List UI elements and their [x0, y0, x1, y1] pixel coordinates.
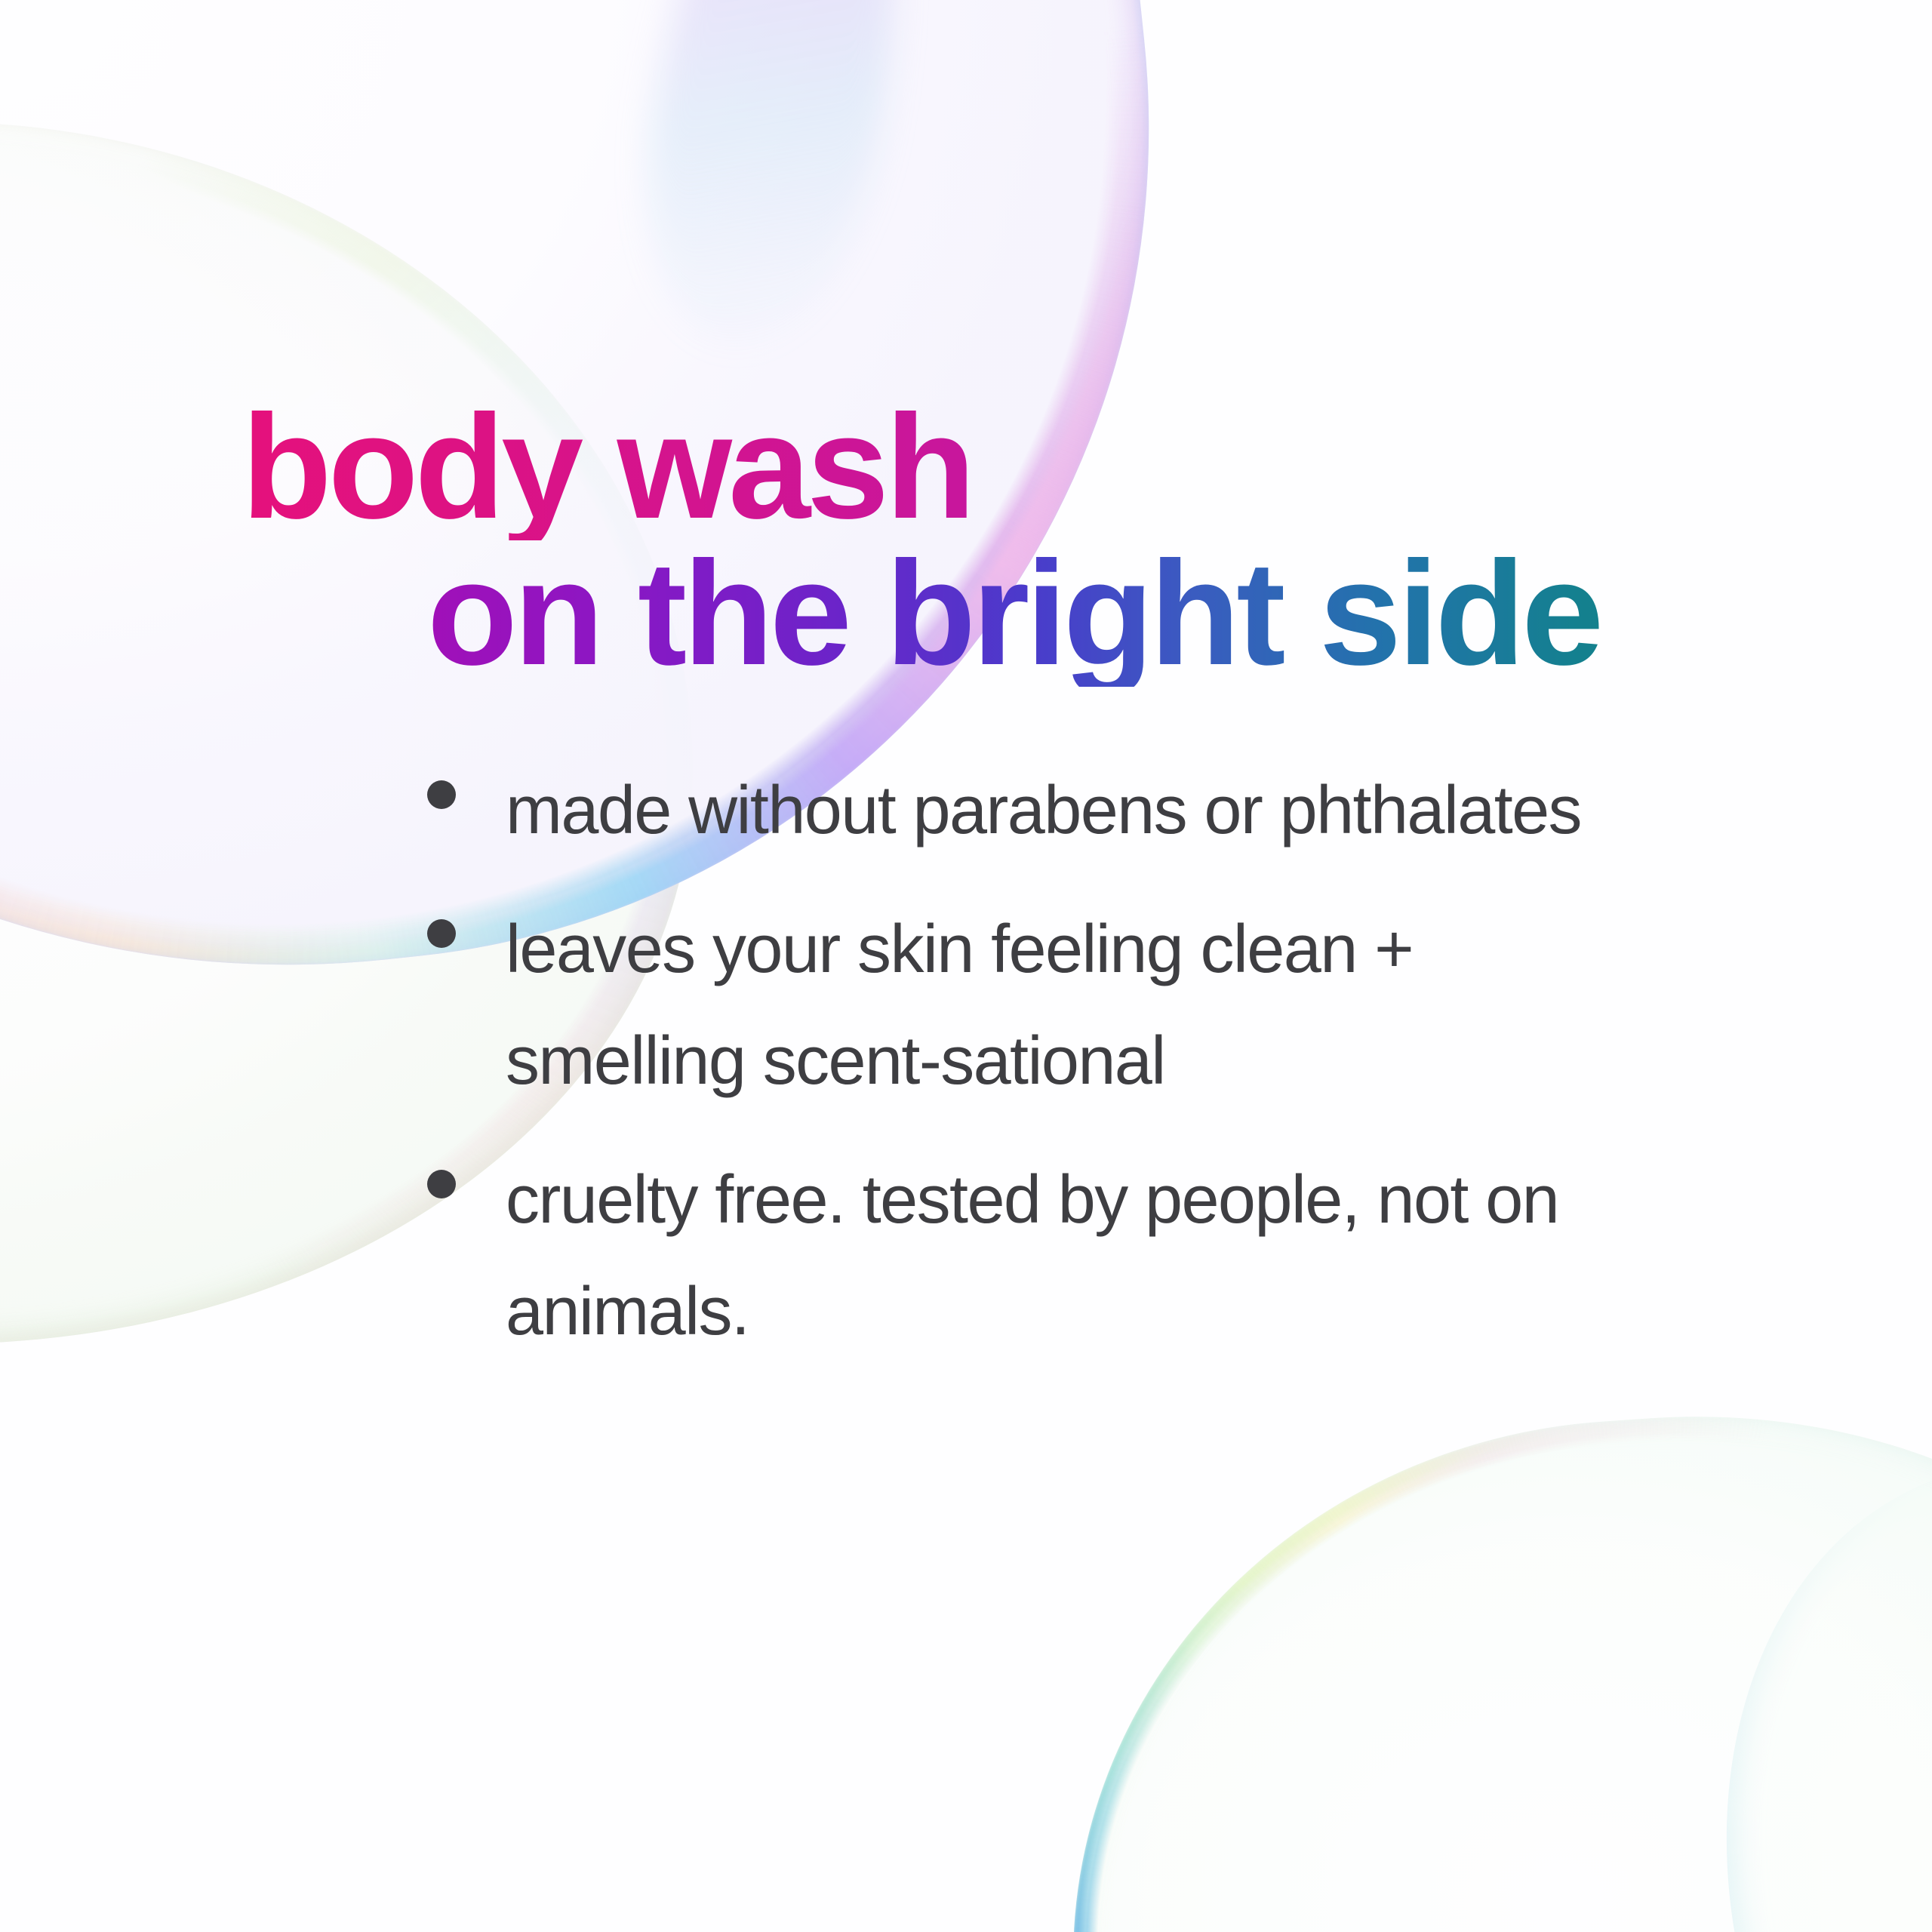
benefit-text: made without parabens or phthalates	[506, 755, 1581, 866]
headline: body wash on the bright side	[241, 394, 1796, 687]
marketing-card: body wash on the bright side made withou…	[0, 0, 1932, 1932]
list-item: made without parabens or phthalates	[427, 755, 1650, 866]
headline-line-2: on the bright side	[427, 540, 1796, 687]
headline-line-1: body wash	[241, 394, 1796, 540]
bullet-dot-icon	[427, 1170, 456, 1198]
bullet-dot-icon	[427, 919, 456, 948]
benefit-text: leaves your skin feeling clean + smellin…	[506, 894, 1650, 1117]
list-item: leaves your skin feeling clean + smellin…	[427, 894, 1650, 1117]
bullet-dot-icon	[427, 780, 456, 809]
benefits-list: made without parabens or phthalates leav…	[427, 755, 1650, 1395]
list-item: cruelty free. tested by people, not on a…	[427, 1144, 1650, 1367]
card-content: body wash on the bright side made withou…	[0, 0, 1932, 1932]
benefit-text: cruelty free. tested by people, not on a…	[506, 1144, 1650, 1367]
